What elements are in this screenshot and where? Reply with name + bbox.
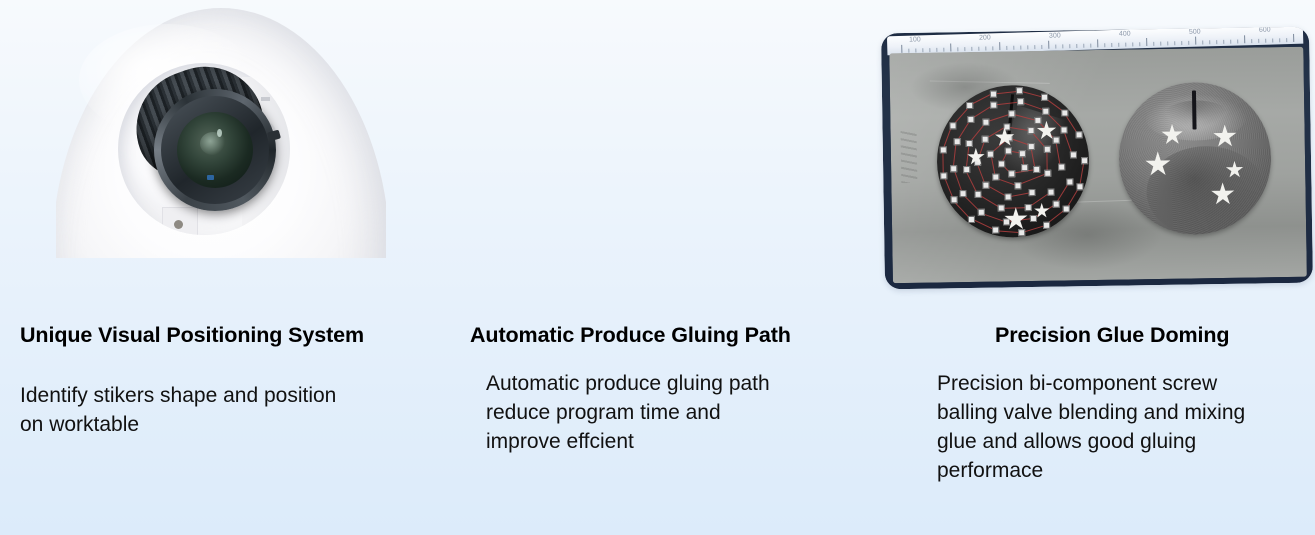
background-fixture [162, 207, 198, 235]
body-line: glue and allows good gluing [937, 428, 1315, 457]
lens-glass [177, 112, 253, 188]
body-line: performace [937, 457, 1315, 486]
lens-highlight [217, 129, 222, 137]
body-line: Precision bi-component screw [937, 370, 1315, 399]
industrial-vision-camera-photo [56, 8, 386, 258]
body-line: on worktable [20, 411, 420, 440]
feature-column-gluing-path: 100 200 300 400 500 600 [440, 0, 885, 535]
feature-heading-visual-positioning: Unique Visual Positioning System [20, 323, 364, 348]
feature-column-visual-positioning: Unique Visual Positioning System Identif… [0, 0, 440, 535]
feature-heading-glue-doming: Precision Glue Doming [995, 323, 1229, 348]
feature-heading-gluing-path: Automatic Produce Gluing Path [470, 323, 791, 348]
feature-column-glue-doming: Precision Glue Doming Precision bi-compo… [885, 0, 1315, 535]
feature-body-glue-doming: Precision bi-component screw balling val… [937, 370, 1315, 486]
body-line: Identify stikers shape and position [20, 382, 420, 411]
feature-body-gluing-path: Automatic produce gluing path reduce pro… [486, 370, 886, 457]
body-line: Automatic produce gluing path [486, 370, 886, 399]
lens-coating-reflection [207, 175, 214, 180]
body-line: balling valve blending and mixing [937, 399, 1315, 428]
feature-body-visual-positioning: Identify stikers shape and position on w… [20, 382, 420, 440]
body-line: improve effcient [486, 428, 886, 457]
feature-panel: Unique Visual Positioning System Identif… [0, 0, 1315, 535]
lens-inner-ring [161, 96, 269, 204]
lens-outer-ring [154, 89, 276, 211]
camera-lens-recess [118, 63, 290, 235]
body-line: reduce program time and [486, 399, 886, 428]
background-marking [261, 97, 270, 101]
